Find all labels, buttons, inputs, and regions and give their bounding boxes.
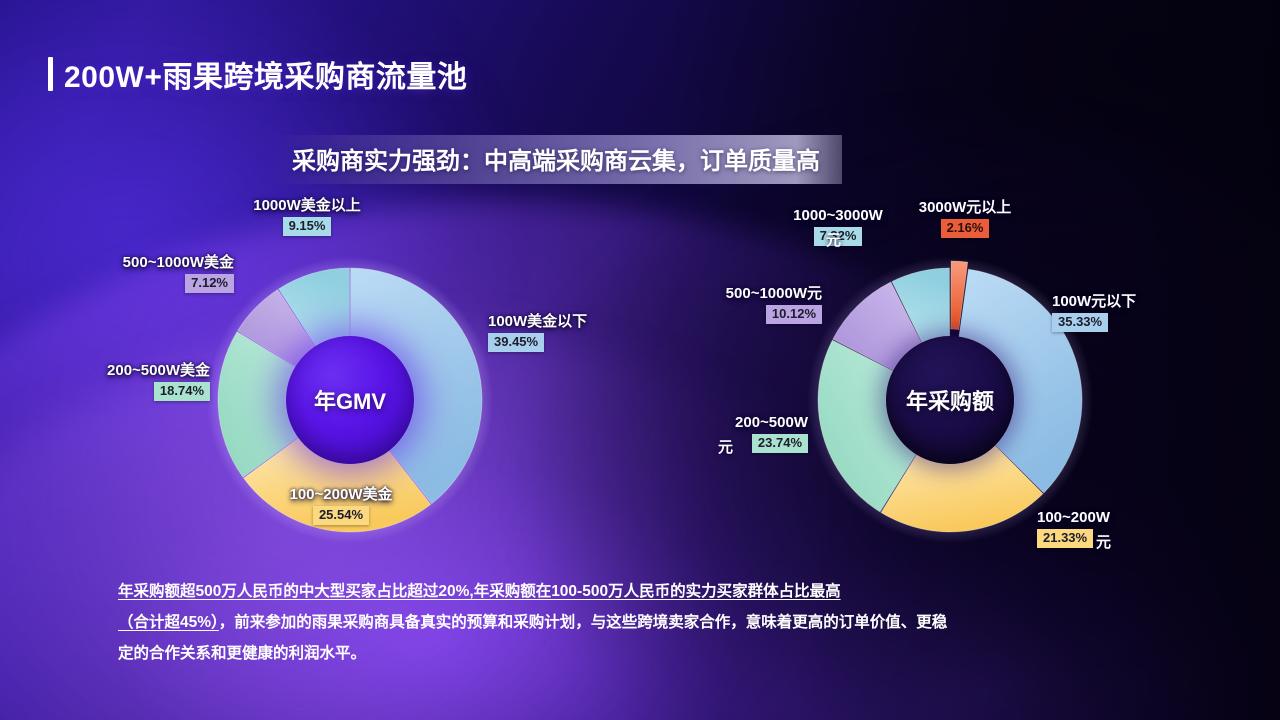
label-left-1000w-plus: 1000W美金以上 9.15%	[232, 198, 382, 236]
value-badge: 10.12%	[766, 305, 822, 324]
footnote-line-3: 定的合作关系和更健康的利润水平。	[118, 638, 1180, 669]
label-name: 1000W美金以上	[232, 198, 382, 215]
footnote: 年采购额超500万人民币的中大型买家占比超过20%,年采购额在100-500万人…	[118, 576, 1180, 669]
value-badge: 35.33%	[1052, 313, 1108, 332]
value-badge: 25.54%	[313, 506, 369, 525]
label-name: 100W美金以下	[488, 314, 648, 331]
value-badge: 18.74%	[154, 382, 210, 401]
label-left-under-100w: 100W美金以下 39.45%	[488, 314, 648, 352]
footnote-line-2: （合计超45%），前来参加的雨果采购商具备真实的预算和采购计划，与这些跨境卖家合…	[118, 607, 1180, 638]
value-badge: 2.16%	[941, 219, 990, 238]
label-name: 1000~3000W	[768, 208, 908, 225]
label-name: 200~500W美金	[52, 363, 210, 380]
donut-right-center-label: 年采购额	[906, 384, 994, 416]
label-right-3000w-plus: 3000W元以上 2.16%	[890, 200, 1040, 238]
label-name: 100~200W美金	[266, 487, 416, 504]
label-right-100-200w: 100~200W 21.33%	[1037, 510, 1177, 548]
value-badge: 7.12%	[185, 274, 234, 293]
label-name: 500~1000W美金	[74, 255, 234, 272]
subtitle-banner: 采购商实力强劲：中高端采购商云集，订单质量高	[272, 135, 842, 184]
donut-left-center: 年GMV	[286, 336, 414, 464]
label-right-under-100w: 100W元以下 35.33%	[1052, 294, 1202, 332]
label-left-200-500w: 200~500W美金 18.74%	[52, 363, 210, 401]
label-name: 500~1000W元	[670, 286, 822, 303]
label-name: 200~500W	[672, 415, 808, 432]
value-badge: 39.45%	[488, 333, 544, 352]
title-text: 200W+雨果跨境采购商流量池	[64, 52, 467, 96]
value-badge: 23.74%	[752, 434, 808, 453]
label-name: 100~200W	[1037, 510, 1177, 527]
slide-canvas: 200W+雨果跨境采购商流量池 采购商实力强劲：中高端采购商云集，订单质量高	[0, 0, 1280, 720]
label-left-500-1000w: 500~1000W美金 7.12%	[74, 255, 234, 293]
value-badge: 7.32%	[814, 227, 863, 246]
label-right-1000-3000w: 1000~3000W 7.32%	[768, 208, 908, 246]
label-name: 100W元以下	[1052, 294, 1202, 311]
footnote-line-2-underlined: （合计超45%）	[118, 614, 219, 631]
footnote-line-1: 年采购额超500万人民币的中大型买家占比超过20%,年采购额在100-500万人…	[118, 576, 1180, 607]
subtitle-text: 采购商实力强劲：中高端采购商云集，订单质量高	[292, 141, 820, 176]
value-badge: 21.33%	[1037, 529, 1093, 548]
donut-right-center: 年采购额	[886, 336, 1014, 464]
label-left-100-200w: 100~200W美金 25.54%	[266, 487, 416, 525]
donut-left-center-label: 年GMV	[314, 384, 386, 416]
value-badge: 9.15%	[283, 217, 332, 236]
title-accent-bar	[48, 57, 53, 91]
footnote-line-2-rest: ，前来参加的雨果采购商具备真实的预算和采购计划，与这些跨境卖家合作，意味着更高的…	[219, 614, 948, 631]
label-name: 3000W元以上	[890, 200, 1040, 217]
label-right-500-1000w: 500~1000W元 10.12%	[670, 286, 822, 324]
page-title: 200W+雨果跨境采购商流量池	[48, 52, 467, 96]
label-right-200-500w: 200~500W 23.74%	[672, 415, 808, 453]
